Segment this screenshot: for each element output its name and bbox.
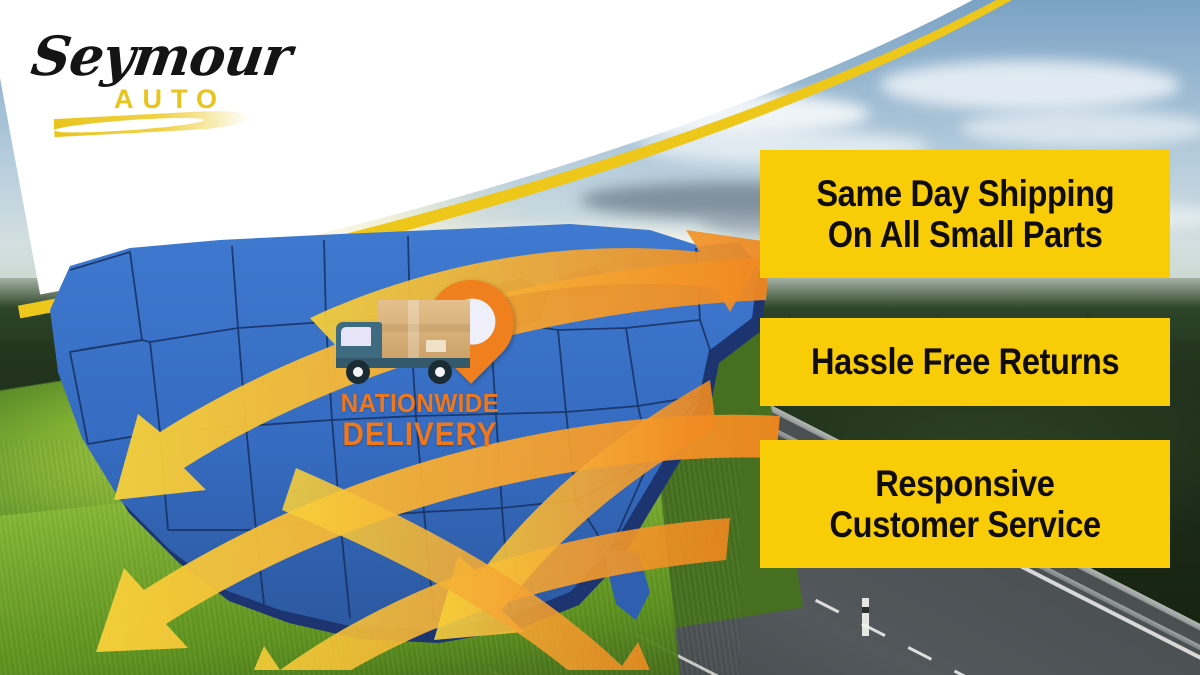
feature-panel-hassle-free-returns[interactable]: Hassle Free Returns — [760, 318, 1170, 406]
promo-banner: NATIONWIDE DELIVERY Same Day Shipping On… — [0, 0, 1200, 675]
panel-line: Same Day Shipping — [816, 173, 1114, 214]
panel-line: Customer Service — [829, 504, 1100, 545]
panel-line: Hassle Free Returns — [811, 341, 1119, 382]
logo-script-text: Seymour — [28, 24, 296, 88]
panel-line: Responsive — [875, 463, 1054, 504]
seymour-auto-logo[interactable]: Seymour AUTO — [28, 22, 258, 122]
nationwide-label: NATIONWIDE — [336, 388, 503, 419]
road-marker-post — [862, 598, 869, 636]
nationwide-delivery-callout: NATIONWIDE DELIVERY — [330, 278, 510, 448]
feature-panel-same-day-shipping[interactable]: Same Day Shipping On All Small Parts — [760, 150, 1170, 278]
feature-panel-responsive-customer-service[interactable]: Responsive Customer Service — [760, 440, 1170, 568]
delivery-label: DELIVERY — [336, 416, 503, 453]
delivery-truck-icon — [336, 300, 484, 386]
panel-line: On All Small Parts — [828, 214, 1103, 255]
